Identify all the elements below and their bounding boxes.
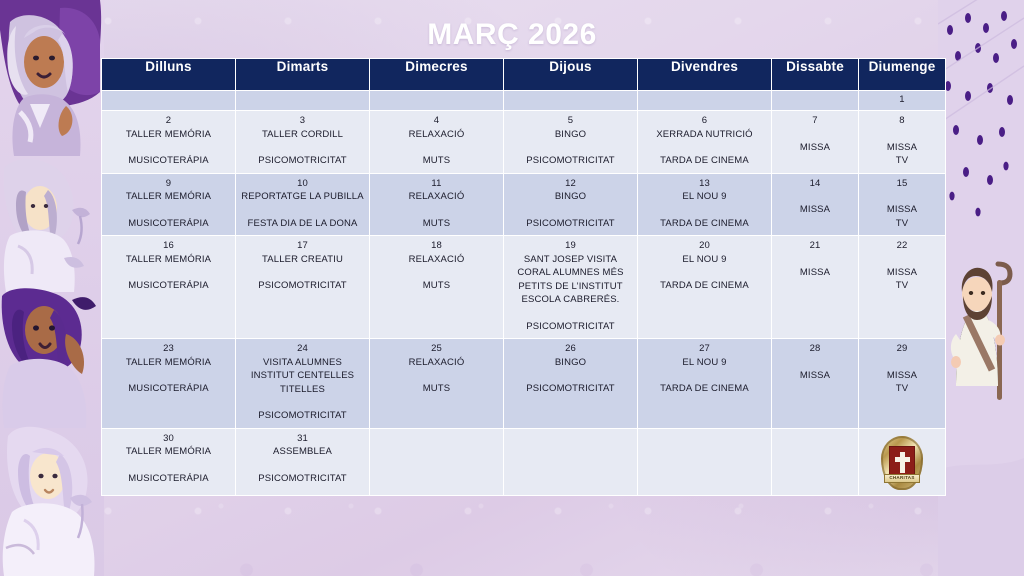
calendar-day-cell[interactable]: 13EL NOU 9TARDA DE CINEMA <box>638 173 772 236</box>
day-number: 31 <box>240 432 365 446</box>
calendar-body: 12TALLER MEMÓRIAMUSICOTERÁPIA3TALLER COR… <box>102 91 946 496</box>
event-spacer <box>642 204 767 217</box>
calendar-day-cell[interactable]: 27EL NOU 9TARDA DE CINEMA <box>638 339 772 429</box>
day-number: 3 <box>240 114 365 128</box>
event-spacer <box>776 128 854 141</box>
calendar-week-row: 1 <box>102 91 946 111</box>
event-label: TARDA DE CINEMA <box>642 279 767 293</box>
calendar-empty-cell[interactable] <box>236 91 370 111</box>
event-label: TV <box>863 154 941 168</box>
calendar-day-cell[interactable]: 19SANT JOSEP VISITA CORAL ALUMNES MÉS PE… <box>504 236 638 339</box>
day-number: 30 <box>106 432 231 446</box>
day-number: 28 <box>776 342 854 356</box>
day-number: 18 <box>374 239 499 253</box>
event-spacer <box>240 396 365 409</box>
event-label: BINGO <box>508 356 633 370</box>
day-number: 11 <box>374 177 499 191</box>
calendar-empty-cell[interactable] <box>370 428 504 495</box>
event-label: TARDA DE CINEMA <box>642 154 767 168</box>
event-label: PSICOMOTRICITAT <box>508 320 633 334</box>
event-label: MUSICOTERÁPIA <box>106 154 231 168</box>
event-spacer <box>240 266 365 279</box>
event-label: RELAXACIÓ <box>374 356 499 370</box>
calendar-day-cell[interactable]: 29MISSATV <box>859 339 946 429</box>
day-number: 24 <box>240 342 365 356</box>
event-label: MUTS <box>374 154 499 168</box>
day-number: 26 <box>508 342 633 356</box>
calendar-week-row: 9TALLER MEMÓRIAMUSICOTERÁPIA10REPORTATGE… <box>102 173 946 236</box>
day-number: 4 <box>374 114 499 128</box>
left-decorative-illustration <box>0 0 104 576</box>
event-spacer <box>863 253 941 266</box>
day-number: 29 <box>863 342 941 356</box>
event-label: REPORTATGE LA PUBILLA <box>240 190 365 204</box>
calendar-empty-cell[interactable] <box>504 91 638 111</box>
calendar-empty-cell[interactable]: CHARITAS <box>859 428 946 495</box>
calendar-day-cell[interactable]: 21MISSA <box>772 236 859 339</box>
event-label: MISSA <box>776 141 854 155</box>
event-label: EL NOU 9 <box>642 190 767 204</box>
event-label: MISSA <box>776 369 854 383</box>
event-label: MISSA <box>863 369 941 383</box>
event-label: TALLER MEMÓRIA <box>106 356 231 370</box>
day-number: 2 <box>106 114 231 128</box>
event-label: MISSA <box>863 203 941 217</box>
day-number: 25 <box>374 342 499 356</box>
event-label: TV <box>863 382 941 396</box>
day-number: 27 <box>642 342 767 356</box>
event-label: RELAXACIÓ <box>374 190 499 204</box>
day-number: 10 <box>240 177 365 191</box>
calendar-day-cell[interactable]: 6XERRADA NUTRICIÓTARDA DE CINEMA <box>638 111 772 174</box>
event-spacer <box>863 128 941 141</box>
calendar-empty-cell[interactable] <box>638 428 772 495</box>
calendar-day-cell[interactable]: 2TALLER MEMÓRIAMUSICOTERÁPIA <box>102 111 236 174</box>
calendar-day-cell[interactable]: 20EL NOU 9TARDA DE CINEMA <box>638 236 772 339</box>
event-label: TALLER MEMÓRIA <box>106 253 231 267</box>
calendar-day-cell[interactable]: 12BINGOPSICOMOTRICITAT <box>504 173 638 236</box>
event-label: TALLER MEMÓRIA <box>106 128 231 142</box>
day-number: 17 <box>240 239 365 253</box>
weekday-header-divendres: Divendres <box>638 59 772 91</box>
event-spacer <box>642 266 767 279</box>
event-label: TALLER CREATIU <box>240 253 365 267</box>
event-label: PSICOMOTRICITAT <box>240 472 365 486</box>
calendar-day-cell[interactable]: 31ASSEMBLEAPSICOMOTRICITAT <box>236 428 370 495</box>
event-label: TALLER CORDILL <box>240 128 365 142</box>
calendar-day-cell[interactable]: 9TALLER MEMÓRIAMUSICOTERÁPIA <box>102 173 236 236</box>
day-number: 5 <box>508 114 633 128</box>
event-label: MISSA <box>863 141 941 155</box>
event-label: RELAXACIÓ <box>374 253 499 267</box>
event-label: MUSICOTERÁPIA <box>106 279 231 293</box>
event-spacer <box>776 253 854 266</box>
day-number: 7 <box>776 114 854 128</box>
event-label: TARDA DE CINEMA <box>642 382 767 396</box>
event-spacer <box>863 356 941 369</box>
right-decorative-illustration <box>938 0 1024 576</box>
event-spacer <box>508 307 633 320</box>
calendar-empty-cell[interactable] <box>370 91 504 111</box>
calendar-day-cell[interactable]: 15MISSATV <box>859 173 946 236</box>
event-label: MISSA <box>776 266 854 280</box>
event-label: EL NOU 9 <box>642 356 767 370</box>
event-spacer <box>508 369 633 382</box>
calendar-day-cell[interactable]: 3TALLER CORDILLPSICOMOTRICITAT <box>236 111 370 174</box>
calendar-empty-cell[interactable] <box>772 91 859 111</box>
event-spacer <box>106 369 231 382</box>
event-label: MUSICOTERÁPIA <box>106 472 231 486</box>
page-title: MARÇ 2026 <box>0 18 1024 52</box>
event-spacer <box>374 141 499 154</box>
day-number: 8 <box>863 114 941 128</box>
calendar-day-cell[interactable]: 8MISSATV <box>859 111 946 174</box>
event-label: MISSA <box>776 203 854 217</box>
calendar-week-row: 2TALLER MEMÓRIAMUSICOTERÁPIA3TALLER CORD… <box>102 111 946 174</box>
calendar-day-cell[interactable]: 16TALLER MEMÓRIAMUSICOTERÁPIA <box>102 236 236 339</box>
day-number: 6 <box>642 114 767 128</box>
calendar-header-row: DillunsDimartsDimecresDijousDivendresDis… <box>102 59 946 91</box>
event-label: TALLER MEMÓRIA <box>106 190 231 204</box>
calendar-week-row: 30TALLER MEMÓRIAMUSICOTERÁPIA31ASSEMBLEA… <box>102 428 946 495</box>
day-number: 21 <box>776 239 854 253</box>
event-spacer <box>642 369 767 382</box>
calendar-week-row: 23TALLER MEMÓRIAMUSICOTERÁPIA24VISITA AL… <box>102 339 946 429</box>
calendar-day-cell[interactable]: 26BINGOPSICOMOTRICITAT <box>504 339 638 429</box>
event-label: MUTS <box>374 217 499 231</box>
weekday-header-dimarts: Dimarts <box>236 59 370 91</box>
event-spacer <box>106 459 231 472</box>
event-label: PSICOMOTRICITAT <box>508 382 633 396</box>
event-label: TALLER MEMÓRIA <box>106 445 231 459</box>
event-label: PSICOMOTRICITAT <box>240 154 365 168</box>
weekday-header-dijous: Dijous <box>504 59 638 91</box>
day-number: 15 <box>863 177 941 191</box>
calendar-day-cell[interactable]: 22MISSATV <box>859 236 946 339</box>
event-label: XERRADA NUTRICIÓ <box>642 128 767 142</box>
calendar-day-cell[interactable]: 24VISITA ALUMNES INSTITUT CENTELLES TITE… <box>236 339 370 429</box>
event-spacer <box>508 141 633 154</box>
event-spacer <box>508 204 633 217</box>
event-spacer <box>374 266 499 279</box>
event-label: BINGO <box>508 190 633 204</box>
calendar-day-cell[interactable]: 14MISSA <box>772 173 859 236</box>
calendar-empty-cell[interactable] <box>102 91 236 111</box>
day-number: 13 <box>642 177 767 191</box>
day-number: 22 <box>863 239 941 253</box>
weekday-header-dilluns: Dilluns <box>102 59 236 91</box>
event-spacer <box>776 190 854 203</box>
event-spacer <box>106 141 231 154</box>
cross-icon <box>900 452 905 473</box>
event-spacer <box>240 459 365 472</box>
day-number: 12 <box>508 177 633 191</box>
event-spacer <box>106 266 231 279</box>
calendar-day-cell[interactable]: 10REPORTATGE LA PUBILLAFESTA DIA DE LA D… <box>236 173 370 236</box>
event-spacer <box>642 141 767 154</box>
event-label: MUTS <box>374 279 499 293</box>
day-number: 20 <box>642 239 767 253</box>
event-label: BINGO <box>508 128 633 142</box>
event-spacer <box>240 141 365 154</box>
event-label: VISITA ALUMNES INSTITUT CENTELLES TITELL… <box>240 356 365 397</box>
day-number: 14 <box>776 177 854 191</box>
day-number: 1 <box>863 93 941 107</box>
event-label: MUSICOTERÁPIA <box>106 217 231 231</box>
event-label: PSICOMOTRICITAT <box>240 279 365 293</box>
event-spacer <box>374 204 499 217</box>
event-spacer <box>240 204 365 217</box>
calendar-day-cell[interactable]: 1 <box>859 91 946 111</box>
calendar-day-cell[interactable]: 4RELAXACIÓMUTS <box>370 111 504 174</box>
calendar-day-cell[interactable]: 11RELAXACIÓMUTS <box>370 173 504 236</box>
event-label: PSICOMOTRICITAT <box>240 409 365 423</box>
monthly-calendar-table: DillunsDimartsDimecresDijousDivendresDis… <box>101 58 946 496</box>
event-label: FESTA DIA DE LA DONA <box>240 217 365 231</box>
event-label: MUSICOTERÁPIA <box>106 382 231 396</box>
calendar-day-cell[interactable]: 5BINGOPSICOMOTRICITAT <box>504 111 638 174</box>
day-number: 16 <box>106 239 231 253</box>
calendar-day-cell[interactable]: 25RELAXACIÓMUTS <box>370 339 504 429</box>
weekday-header-dimecres: Dimecres <box>370 59 504 91</box>
calendar-day-cell[interactable]: 28MISSA <box>772 339 859 429</box>
day-number: 9 <box>106 177 231 191</box>
calendar-day-cell[interactable]: 18RELAXACIÓMUTS <box>370 236 504 339</box>
calendar-day-cell[interactable]: 17TALLER CREATIUPSICOMOTRICITAT <box>236 236 370 339</box>
calendar-day-cell[interactable]: 30TALLER MEMÓRIAMUSICOTERÁPIA <box>102 428 236 495</box>
event-spacer <box>776 356 854 369</box>
event-label: PSICOMOTRICITAT <box>508 154 633 168</box>
event-label: TARDA DE CINEMA <box>642 217 767 231</box>
weekday-header-dissabte: Dissabte <box>772 59 859 91</box>
calendar-empty-cell[interactable] <box>504 428 638 495</box>
badge-banner-label: CHARITAS <box>884 474 920 483</box>
event-label: TV <box>863 217 941 231</box>
calendar-day-cell[interactable]: 23TALLER MEMÓRIAMUSICOTERÁPIA <box>102 339 236 429</box>
event-label: ASSEMBLEA <box>240 445 365 459</box>
day-number: 23 <box>106 342 231 356</box>
event-label: EL NOU 9 <box>642 253 767 267</box>
calendar-empty-cell[interactable] <box>772 428 859 495</box>
charitas-badge-icon: CHARITAS <box>881 436 923 490</box>
calendar-empty-cell[interactable] <box>638 91 772 111</box>
calendar-day-cell[interactable]: 7MISSA <box>772 111 859 174</box>
weekday-header-diumenge: Diumenge <box>859 59 946 91</box>
event-label: PSICOMOTRICITAT <box>508 217 633 231</box>
event-label: MISSA <box>863 266 941 280</box>
event-label: RELAXACIÓ <box>374 128 499 142</box>
event-label: MUTS <box>374 382 499 396</box>
event-spacer <box>374 369 499 382</box>
calendar-week-row: 16TALLER MEMÓRIAMUSICOTERÁPIA17TALLER CR… <box>102 236 946 339</box>
event-label: TV <box>863 279 941 293</box>
event-label: SANT JOSEP VISITA CORAL ALUMNES MÉS PETI… <box>508 253 633 307</box>
event-spacer <box>106 204 231 217</box>
event-spacer <box>863 190 941 203</box>
day-number: 19 <box>508 239 633 253</box>
